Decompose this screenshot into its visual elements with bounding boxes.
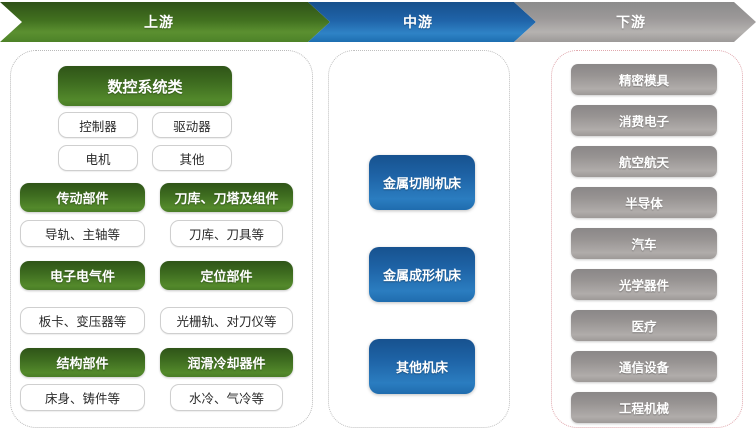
- banner-segment-upstream[interactable]: 上游: [0, 2, 330, 42]
- banner-segment-midstream[interactable]: 中游: [308, 2, 536, 42]
- downstream-industry-optical-devices[interactable]: 光学器件: [571, 269, 717, 300]
- banner-label-downstream: 下游: [616, 12, 646, 32]
- downstream-industry-communication-equipment[interactable]: 通信设备: [571, 351, 717, 382]
- upstream-detail-electrical[interactable]: 板卡、变压器等: [20, 307, 145, 334]
- downstream-industry-aerospace[interactable]: 航空航天: [571, 146, 717, 177]
- downstream-industry-precision-mold[interactable]: 精密模具: [571, 64, 717, 95]
- downstream-industry-semiconductor[interactable]: 半导体: [571, 187, 717, 218]
- upstream-detail-structural[interactable]: 床身、铸件等: [20, 384, 145, 411]
- panel-midstream: 金属切削机床 金属成形机床 其他机床: [328, 50, 510, 428]
- upstream-group-lubrication-cooling[interactable]: 润滑冷却器件: [160, 348, 293, 377]
- upstream-item-motor[interactable]: 电机: [58, 145, 138, 171]
- upstream-item-driver[interactable]: 驱动器: [152, 112, 232, 138]
- stage-banner: 上游 中游 下游: [0, 2, 756, 42]
- downstream-industry-medical[interactable]: 医疗: [571, 310, 717, 341]
- upstream-group-cnc-system[interactable]: 数控系统类: [58, 66, 232, 106]
- downstream-industry-construction-machinery[interactable]: 工程机械: [571, 392, 717, 423]
- upstream-detail-positioning[interactable]: 光栅轨、对刀仪等: [160, 307, 293, 334]
- midstream-machine-other[interactable]: 其他机床: [369, 339, 475, 394]
- upstream-group-transmission[interactable]: 传动部件: [20, 183, 145, 212]
- upstream-group-toolmagazine[interactable]: 刀库、刀塔及组件: [160, 183, 293, 212]
- upstream-item-controller[interactable]: 控制器: [58, 112, 138, 138]
- upstream-group-structural[interactable]: 结构部件: [20, 348, 145, 377]
- upstream-item-other[interactable]: 其他: [152, 145, 232, 171]
- upstream-group-electrical[interactable]: 电子电气件: [20, 261, 145, 290]
- midstream-machine-metal-forming[interactable]: 金属成形机床: [369, 247, 475, 302]
- banner-segment-downstream[interactable]: 下游: [514, 2, 756, 42]
- banner-label-midstream: 中游: [403, 12, 433, 32]
- upstream-detail-toolmagazine[interactable]: 刀库、刀具等: [170, 220, 283, 247]
- upstream-detail-lubrication-cooling[interactable]: 水冷、气冷等: [170, 384, 283, 411]
- downstream-industry-automotive[interactable]: 汽车: [571, 228, 717, 259]
- banner-label-upstream: 上游: [144, 12, 174, 32]
- upstream-group-positioning[interactable]: 定位部件: [160, 261, 293, 290]
- upstream-detail-transmission[interactable]: 导轨、主轴等: [20, 220, 145, 247]
- panel-downstream: 精密模具 消费电子 航空航天 半导体 汽车 光学器件 医疗 通信设备 工程机械: [551, 50, 743, 428]
- downstream-industry-consumer-electronics[interactable]: 消费电子: [571, 105, 717, 136]
- midstream-machine-metal-cutting[interactable]: 金属切削机床: [369, 155, 475, 210]
